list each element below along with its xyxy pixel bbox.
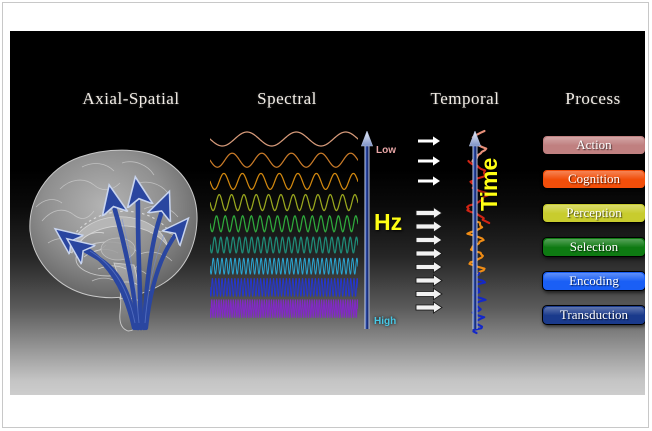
spectral-wave-2 — [210, 153, 358, 167]
spectral-wave-5 — [210, 216, 358, 232]
input-arrow-7 — [416, 248, 442, 259]
column-title-process: Process — [538, 89, 645, 109]
process-box-selection[interactable]: Selection — [542, 237, 645, 257]
column-title-temporal: Temporal — [405, 89, 525, 109]
time-axis-label: Time — [476, 158, 503, 211]
input-arrow-2 — [418, 156, 440, 165]
spectral-wave-4 — [210, 195, 358, 211]
process-box-label: Perception — [566, 205, 622, 220]
column-title-spectral: Spectral — [222, 89, 352, 109]
process-box-action[interactable]: Action — [542, 135, 645, 155]
input-arrow-6 — [416, 234, 442, 245]
spectral-wave-7 — [210, 258, 358, 274]
brain-diagram — [22, 123, 212, 338]
input-arrow-1 — [418, 136, 440, 145]
process-box-perception[interactable]: Perception — [542, 203, 645, 223]
spectral-waveforms — [210, 131, 358, 331]
input-arrow-4 — [416, 207, 442, 218]
process-box-label: Selection — [570, 239, 618, 254]
process-box-label: Action — [576, 137, 611, 152]
input-arrow-9 — [416, 275, 442, 286]
process-stack: ActionCognitionPerceptionSelectionEncodi… — [542, 135, 645, 335]
spectral-wave-1 — [210, 132, 358, 146]
process-box-transduction[interactable]: Transduction — [542, 305, 645, 325]
process-box-label: Cognition — [568, 171, 620, 186]
spectral-wave-8 — [210, 279, 358, 297]
spectral-wave-3 — [210, 173, 358, 189]
frequency-axis-arrow — [360, 131, 374, 331]
frequency-axis-low-label: Low — [376, 145, 396, 156]
figure-page: Axial-Spatial Spectral Temporal Process — [0, 0, 652, 431]
input-arrow-5 — [416, 221, 442, 232]
column-title-axial-spatial: Axial-Spatial — [56, 89, 206, 109]
input-arrow-11 — [416, 302, 442, 313]
figure-canvas: Axial-Spatial Spectral Temporal Process — [10, 31, 645, 395]
process-box-cognition[interactable]: Cognition — [542, 169, 645, 189]
process-box-encoding[interactable]: Encoding — [542, 271, 645, 291]
spectral-wave-6 — [210, 237, 358, 253]
process-box-label: Transduction — [560, 307, 628, 322]
process-box-label: Encoding — [569, 273, 619, 288]
spectral-wave-9 — [210, 300, 358, 318]
frequency-axis-high-label: High — [374, 316, 396, 327]
input-arrow-8 — [416, 261, 442, 272]
frequency-axis-label: Hz — [374, 209, 402, 236]
input-arrow-10 — [416, 288, 442, 299]
input-arrow-3 — [418, 176, 440, 185]
